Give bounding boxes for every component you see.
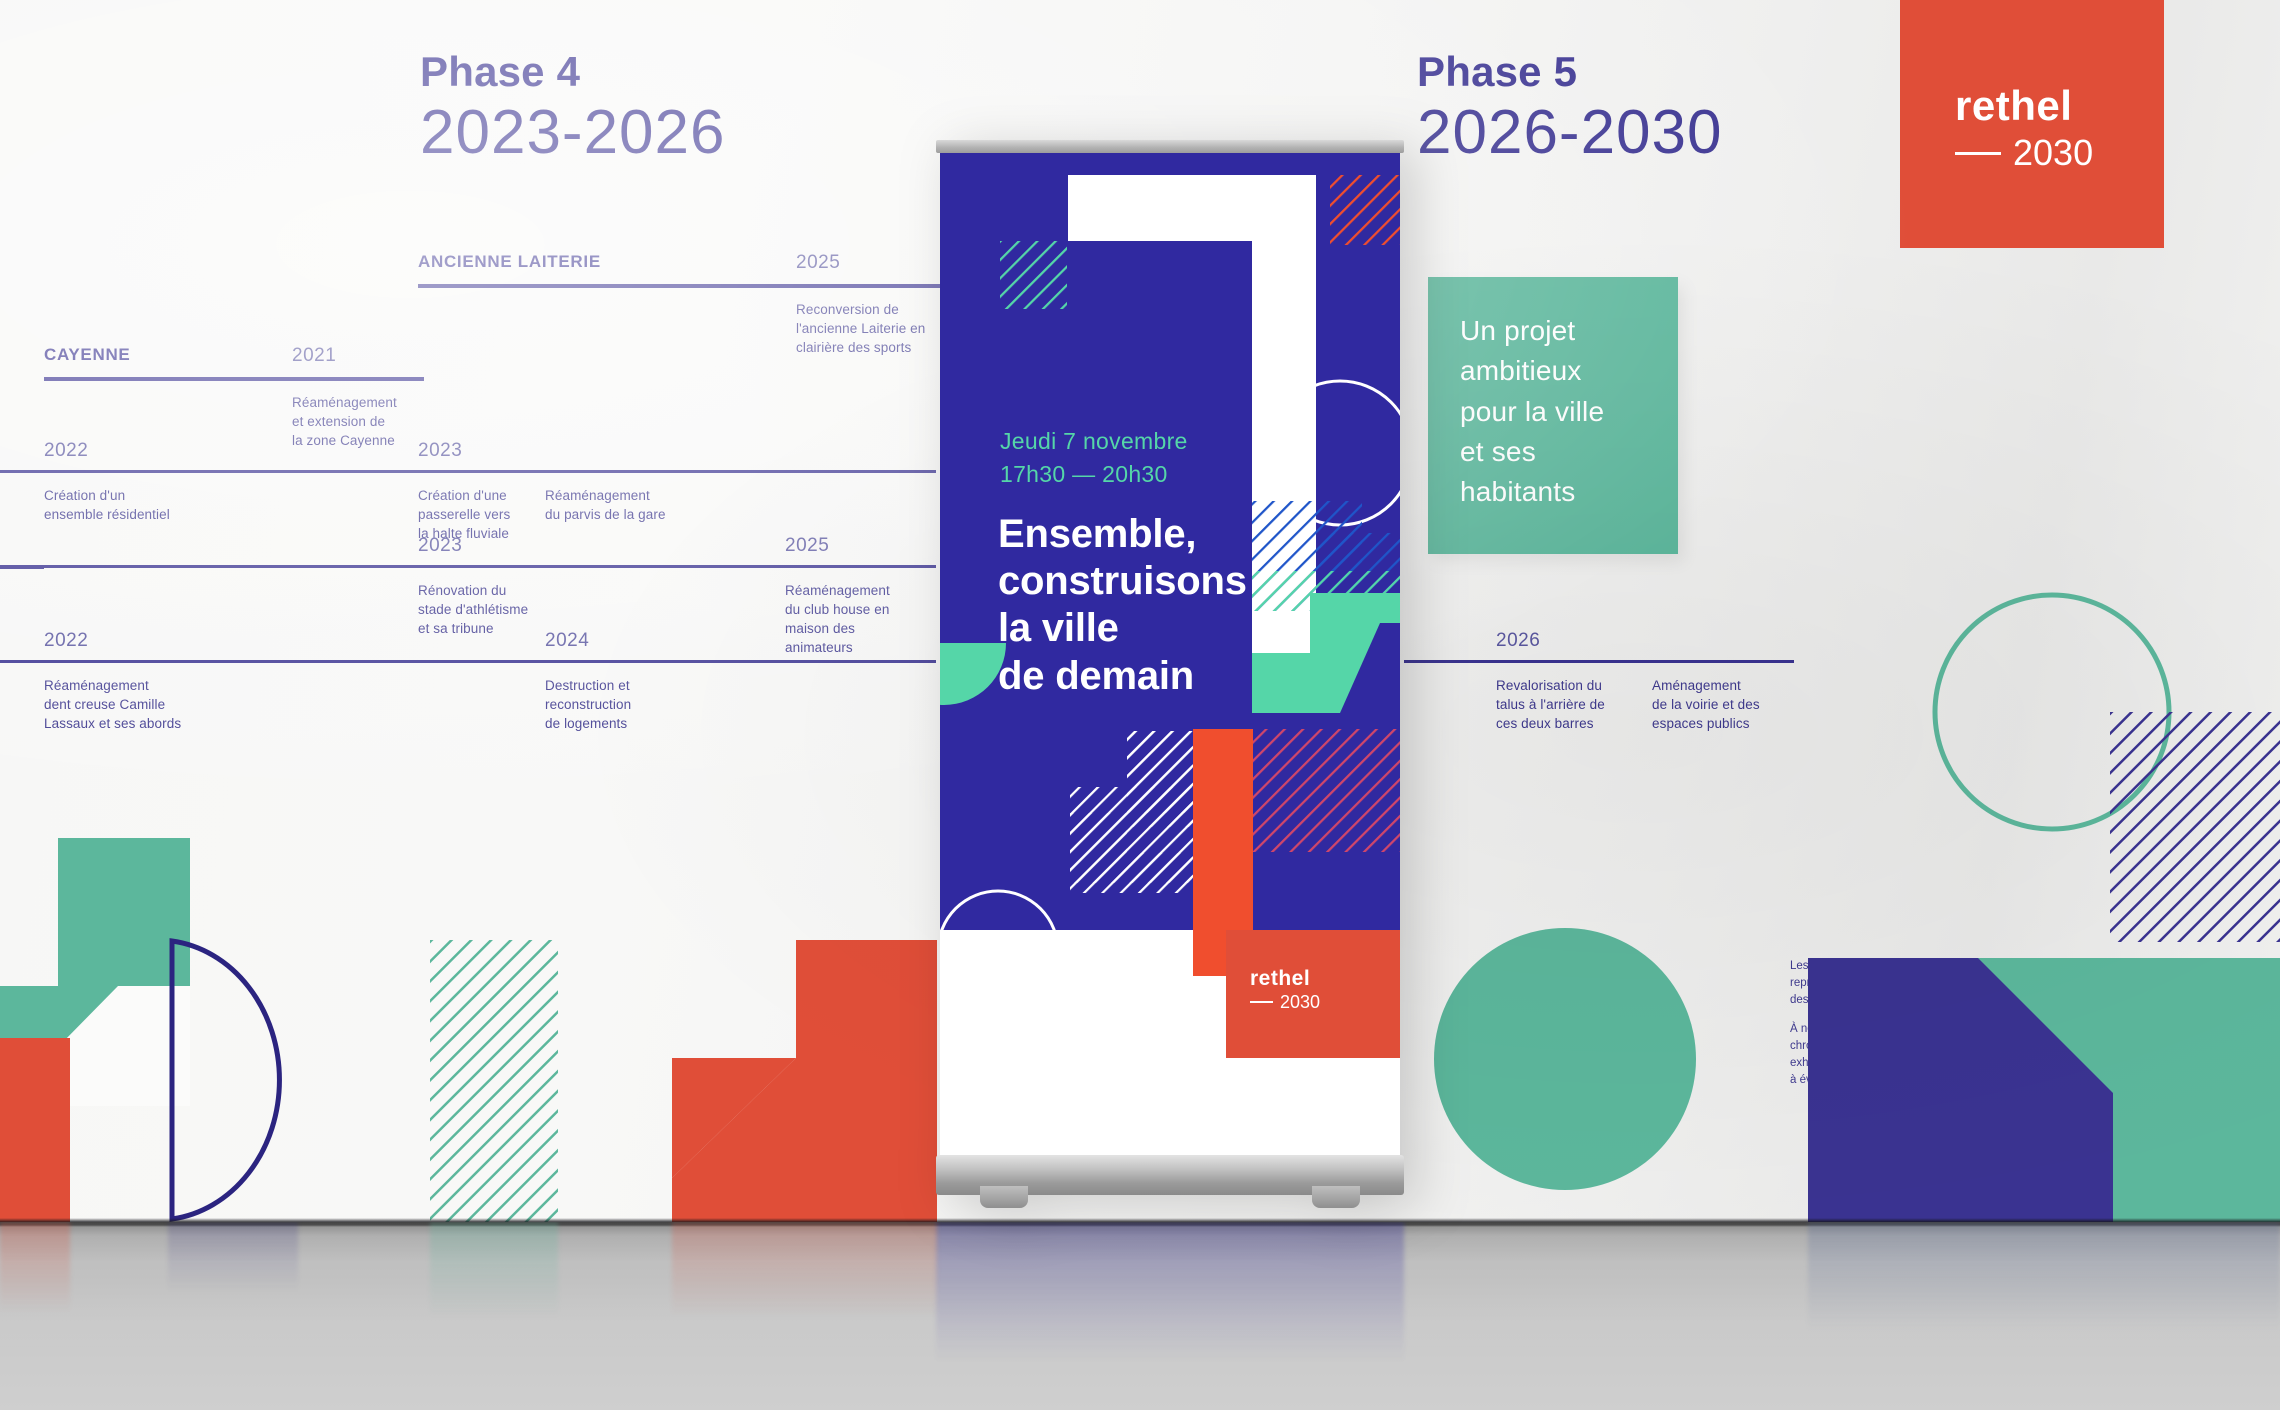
phase-4-name: Phase 4 <box>420 50 726 94</box>
timeline-row-3: 2022 2024 Réaménagement dent creuse Cami… <box>0 630 936 760</box>
banner-headline-line-3: la ville <box>998 605 1247 652</box>
timeline-item: Création d'un ensemble résidentiel <box>44 486 274 524</box>
timeline-row-year-left: 2022 <box>44 440 88 462</box>
banner-headline-line-2: construisons <box>998 558 1247 605</box>
rollup-foot-left <box>980 1186 1028 1208</box>
timeline-rule <box>0 565 936 568</box>
indigo-green-angled-block-shape <box>1808 958 2280 1222</box>
red-angled-block-shape <box>672 940 937 1222</box>
rethel-2030-logo-card: rethel 2030 <box>1900 0 2164 248</box>
timeline-rule <box>418 284 978 288</box>
timeline-row-year: 2026 <box>1496 630 1540 652</box>
banner-logo-year: 2030 <box>1280 993 1320 1011</box>
timeline-row-year-right: 2025 <box>785 535 829 557</box>
banner-lower-graphics <box>940 930 1400 1155</box>
phase-5-heading: Phase 5 2026-2030 <box>1417 50 1723 168</box>
logo-second-row: 2030 <box>1955 135 2093 171</box>
timeline-group-year: 2025 <box>796 252 840 274</box>
timeline-row-year-left: 2022 <box>44 630 88 652</box>
logo-dash-icon <box>1955 152 2001 155</box>
green-card-text: Un projet ambitieux pour la ville et ses… <box>1428 277 1678 513</box>
logo-year: 2030 <box>2013 135 2093 171</box>
timeline-row-phase5: 2026 Revalorisation du talus à l'arrière… <box>1404 630 1794 760</box>
timeline-item: Réaménagement dent creuse Camille Lassau… <box>44 676 264 733</box>
floor-surface <box>0 1222 2280 1410</box>
phase-4-years: 2023-2026 <box>420 98 726 167</box>
timeline-item: Réaménagement du parvis de la gare <box>545 486 705 524</box>
timeline-group-ancienne-laiterie: ANCIENNE LAITERIE 2025 Reconversion de l… <box>418 252 978 392</box>
timeline-item: Aménagement de la voirie et des espaces … <box>1652 676 1812 733</box>
logo-lockup: rethel 2030 <box>1955 85 2093 171</box>
banner-headline-line-1: Ensemble, <box>998 511 1247 558</box>
half-circle-reflection <box>168 1222 298 1292</box>
green-hatch-reflection <box>430 1222 558 1317</box>
red-block-shape-left <box>0 1038 70 1222</box>
banner-date: Jeudi 7 novembre 17h30 — 20h30 <box>1000 425 1188 490</box>
timeline-rule <box>44 377 424 381</box>
timeline-rule-edge <box>0 565 44 569</box>
timeline-item: Destruction et reconstruction de logemen… <box>545 676 705 733</box>
banner-logo-lockup: rethel 2030 <box>1250 968 1320 1011</box>
indigo-half-circle-outline-shape <box>168 938 298 1222</box>
logo-wordmark: rethel <box>1955 85 2093 127</box>
poster-mockup-scene: Phase 4 2023-2026 Phase 5 2026-2030 ANCI… <box>0 0 2280 1410</box>
banner-headline-line-4: de demain <box>998 653 1247 700</box>
timeline-row-year-left: 2023 <box>418 535 462 557</box>
banner-date-line-1: Jeudi 7 novembre <box>1000 425 1188 458</box>
banner-reflection <box>936 1222 1404 1362</box>
banner-lower-white-panel: rethel 2030 <box>940 930 1400 1155</box>
timeline-rule <box>0 470 936 473</box>
red-block-reflection <box>0 1222 70 1312</box>
banner-date-line-2: 17h30 — 20h30 <box>1000 458 1188 491</box>
phase-5-name: Phase 5 <box>1417 50 1723 94</box>
rollup-foot-right <box>1312 1186 1360 1208</box>
timeline-group-title: ANCIENNE LAITERIE <box>418 252 601 272</box>
timeline-row-year-right: 2024 <box>545 630 589 652</box>
timeline-rule <box>0 660 936 663</box>
rollup-banner[interactable]: Jeudi 7 novembre 17h30 — 20h30 Ensemble,… <box>936 140 1404 1225</box>
red-angled-reflection <box>672 1222 937 1317</box>
logo-dash-icon <box>1250 1001 1273 1003</box>
phase-4-heading: Phase 4 2023-2026 <box>420 50 726 168</box>
green-hatch-rectangle-shape <box>430 940 558 1222</box>
phase-5-years: 2026-2030 <box>1417 98 1723 167</box>
banner-headline: Ensemble, construisons la ville de demai… <box>998 511 1247 700</box>
timeline-group-year: 2021 <box>292 345 336 367</box>
timeline-item: Revalorisation du talus à l'arrière de c… <box>1496 676 1651 733</box>
banner-logo-wordmark: rethel <box>1250 968 1320 989</box>
green-statement-card: Un projet ambitieux pour la ville et ses… <box>1428 277 1678 554</box>
timeline-rule <box>1404 660 1794 663</box>
indigo-hatch-square-shape <box>2110 712 2280 942</box>
banner-logo-second-row: 2030 <box>1250 993 1320 1011</box>
rollup-top-rail <box>936 140 1404 153</box>
timeline-row-year-right: 2023 <box>418 440 462 462</box>
green-circle-shape <box>1434 928 1696 1190</box>
timeline-group-title: CAYENNE <box>44 345 130 365</box>
right-blocks-reflection <box>1808 1222 2280 1332</box>
